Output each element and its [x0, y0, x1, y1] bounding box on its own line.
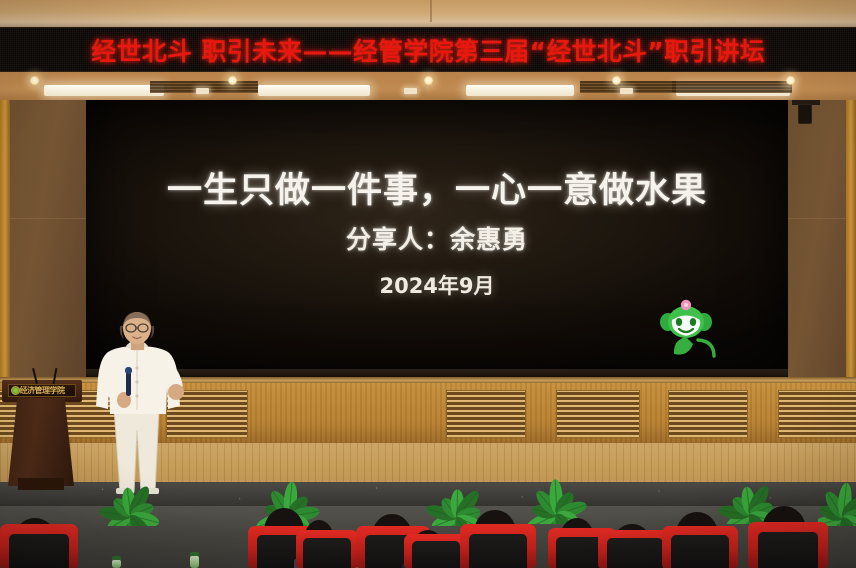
podium[interactable] — [8, 398, 74, 486]
ceiling — [0, 0, 856, 30]
podium-plaque-text: 经济管理学院 — [20, 385, 65, 396]
water-bottle-2 — [190, 556, 199, 568]
wall-louver-4 — [446, 390, 526, 438]
ceiling-vent-3 — [672, 81, 792, 93]
downlight-2 — [228, 76, 237, 85]
ceiling-seam — [430, 0, 432, 22]
wall-seam-left — [0, 218, 86, 219]
chair-8[interactable] — [598, 530, 672, 568]
projector-speaker-icon — [798, 104, 812, 124]
acoustic-wall-left — [0, 100, 86, 378]
podium-base — [18, 478, 64, 490]
chair-9[interactable] — [662, 526, 738, 568]
small-lamp-2 — [404, 88, 417, 94]
downlight-4 — [612, 76, 621, 85]
green-monkey-mascot-icon — [652, 296, 724, 358]
presenter-standing — [84, 312, 192, 494]
wall-trim-right — [846, 100, 856, 378]
wall-louver-5 — [556, 390, 640, 438]
wall-louver-7 — [778, 390, 856, 438]
chair-5[interactable] — [404, 534, 468, 568]
light-panel-3 — [466, 85, 574, 96]
slide-title: 一生只做一件事，一心一意做水果 — [86, 162, 788, 213]
auditorium-scene: 经世北斗 职引未来——经管学院第三届“经世北斗”职引讲坛 一生只做一件事，一心一… — [0, 0, 856, 568]
chair-1[interactable] — [0, 524, 78, 568]
chair-seat-back — [9, 534, 68, 568]
chair-seat-back — [469, 534, 527, 568]
chair-6[interactable] — [460, 524, 536, 568]
green-circle-emblem-icon — [11, 386, 20, 395]
chair-seat-back — [607, 538, 663, 568]
wall-louver-6 — [668, 390, 748, 438]
chair-10[interactable] — [748, 522, 828, 568]
small-lamp-1 — [196, 88, 209, 94]
led-banner: 经世北斗 职引未来——经管学院第三届“经世北斗”职引讲坛 — [0, 27, 856, 72]
potted-plant-6 — [818, 480, 856, 526]
downlight-3 — [424, 76, 433, 85]
potted-plant-4 — [522, 470, 592, 524]
led-banner-text: 经世北斗 职引未来——经管学院第三届“经世北斗”职引讲坛 — [91, 32, 765, 68]
chair-seat-back — [303, 538, 350, 568]
downlight-5 — [786, 76, 795, 85]
wall-trim-left — [0, 100, 10, 378]
small-lamp-3 — [620, 88, 633, 94]
downlight-1 — [30, 76, 39, 85]
light-panel-1 — [44, 85, 164, 96]
water-bottle-1 — [112, 560, 121, 568]
light-panel-2 — [258, 85, 370, 96]
chair-seat-back — [758, 532, 819, 568]
slide-presenter: 分享人：余惠勇 — [86, 220, 788, 256]
chair-seat-back — [412, 541, 461, 568]
chair-3[interactable] — [296, 530, 358, 568]
chair-seat-back — [671, 535, 729, 568]
potted-plant-1 — [88, 468, 174, 526]
